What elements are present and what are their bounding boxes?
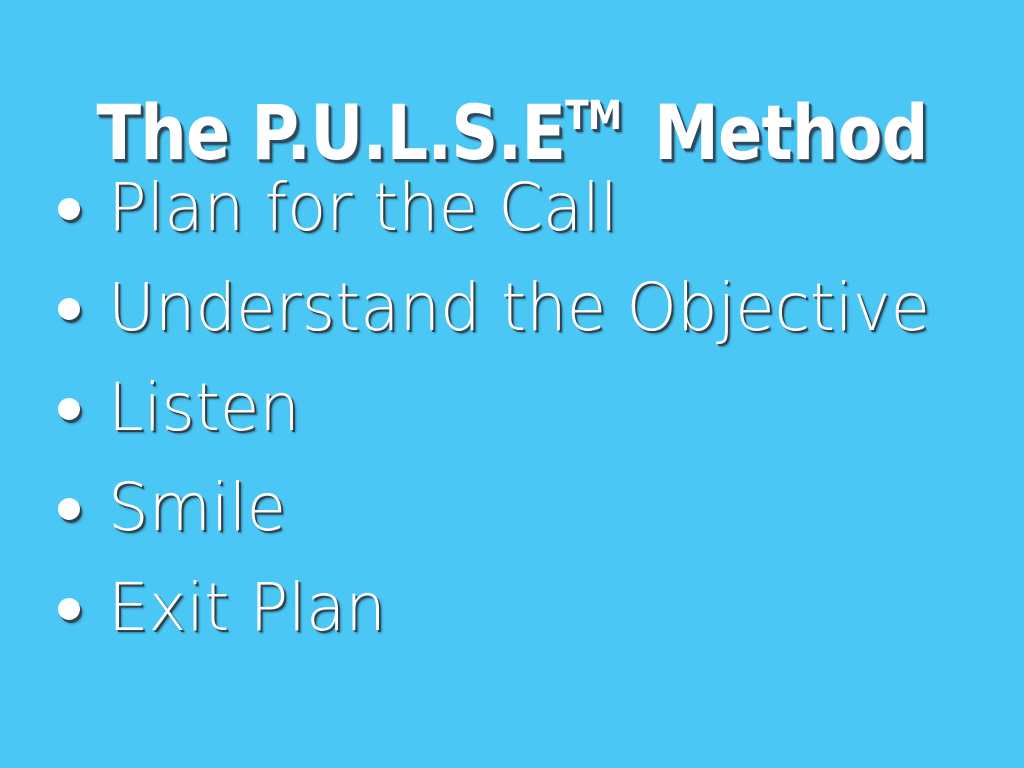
round-bullet-icon: [58, 498, 80, 520]
list-item: Smile: [58, 458, 998, 558]
trademark-symbol: TM: [565, 93, 621, 139]
round-bullet-icon: [58, 198, 80, 220]
list-item-label: Exit Plan: [108, 558, 386, 658]
bullet-list: Plan for the Call Understand the Objecti…: [58, 158, 998, 658]
list-item: Understand the Objective: [58, 258, 998, 358]
list-item: Exit Plan: [58, 558, 998, 658]
round-bullet-icon: [58, 398, 80, 420]
list-item-label: Smile: [108, 458, 286, 558]
list-item: Listen: [58, 358, 998, 458]
list-item: Plan for the Call: [58, 158, 998, 258]
list-item-label: Understand the Objective: [108, 258, 930, 358]
round-bullet-icon: [58, 298, 80, 320]
list-item-label: Listen: [108, 358, 300, 458]
round-bullet-icon: [58, 598, 80, 620]
list-item-label: Plan for the Call: [108, 158, 618, 258]
presentation-slide: The P.U.L.S.ETMMethod Plan for the Call …: [0, 0, 1024, 768]
